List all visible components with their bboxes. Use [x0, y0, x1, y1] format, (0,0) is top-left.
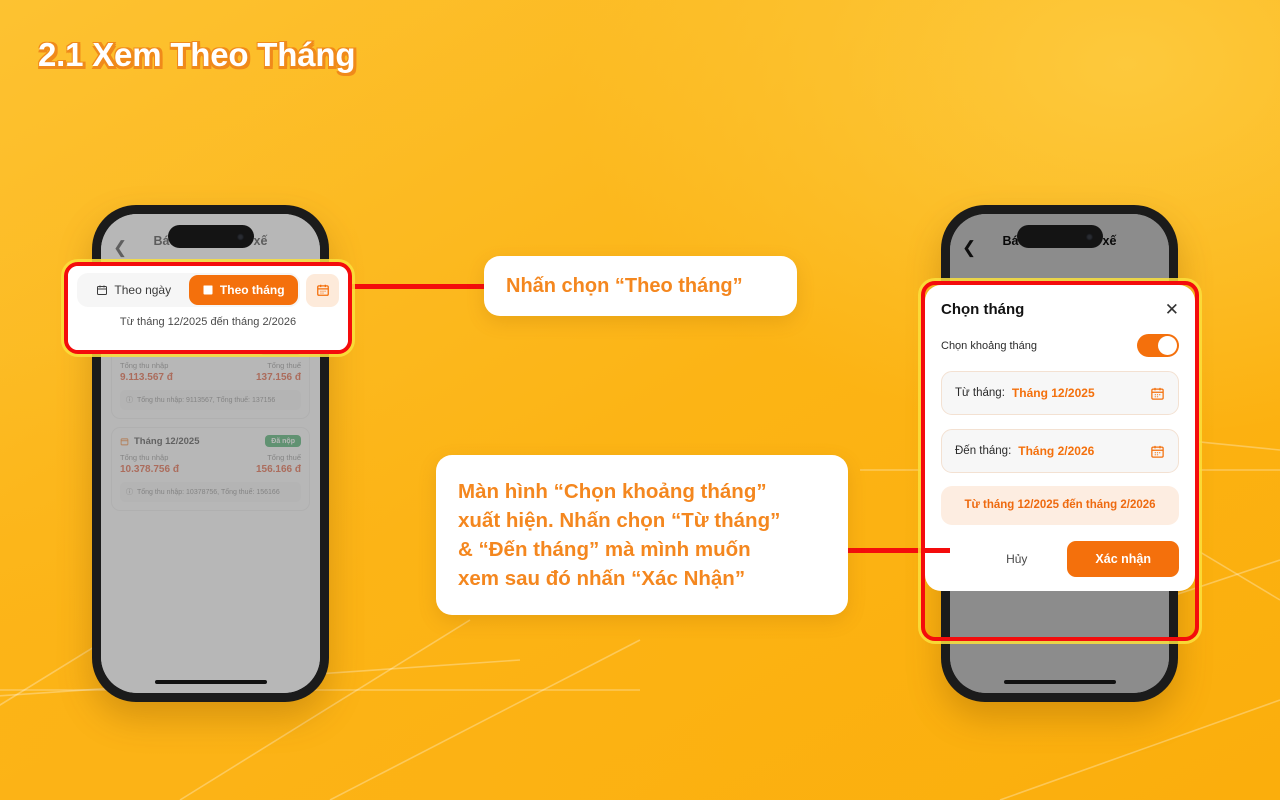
home-indicator: [1004, 680, 1116, 684]
highlight-tab-theo-thang-label: Theo tháng: [220, 283, 285, 297]
callout-step-2-line-2: xuất hiện. Nhấn chọn “Từ tháng”: [458, 506, 780, 535]
highlight-box-segmented: Theo ngày Theo tháng Từ tháng 12/2025 đế…: [64, 262, 352, 354]
page-title: 2.1 Xem Theo Tháng: [38, 36, 355, 74]
highlight-tab-theo-thang[interactable]: Theo tháng: [189, 275, 299, 305]
to-month-label: Đến tháng:: [955, 445, 1011, 457]
calendar-icon: [96, 284, 108, 296]
confirm-button[interactable]: Xác nhận: [1067, 541, 1179, 577]
to-month-field[interactable]: Đến tháng: Tháng 2/2026: [941, 429, 1179, 473]
from-month-label: Từ tháng:: [955, 387, 1005, 399]
month-picker-modal: Chọn tháng ✕ Chọn khoảng tháng Từ tháng:…: [925, 285, 1195, 591]
highlight-tab-theo-ngay-label: Theo ngày: [114, 283, 171, 297]
connector-line-1: [349, 284, 494, 289]
highlight-selected-range-text: Từ tháng 12/2025 đến tháng 2/2026: [77, 307, 339, 336]
highlight-tab-theo-ngay[interactable]: Theo ngày: [79, 275, 189, 305]
calendar-icon: [1150, 444, 1165, 459]
dynamic-island: [168, 225, 254, 248]
close-icon[interactable]: ✕: [1165, 301, 1179, 318]
home-indicator: [155, 680, 267, 684]
from-month-field[interactable]: Từ tháng: Tháng 12/2025: [941, 371, 1179, 415]
cancel-button[interactable]: Hủy: [984, 543, 1049, 575]
calendar-picker-icon: [316, 283, 330, 297]
range-summary: Từ tháng 12/2025 đến tháng 2/2026: [941, 486, 1179, 525]
highlight-period-segmented-control[interactable]: Theo ngày Theo tháng: [77, 273, 300, 307]
connector-line-2: [845, 548, 950, 553]
callout-step-2-line-3: & “Đến tháng” mà mình muốn: [458, 535, 780, 564]
calendar-icon: [1150, 386, 1165, 401]
callout-step-2-line-4: xem sau đó nhấn “Xác Nhận”: [458, 564, 780, 593]
highlight-open-month-picker-button[interactable]: [306, 274, 339, 307]
modal-title: Chọn tháng: [941, 301, 1024, 318]
dynamic-island: [1017, 225, 1103, 248]
range-toggle-label: Chọn khoảng tháng: [941, 340, 1037, 352]
callout-step-2: Màn hình “Chọn khoảng tháng” xuất hiện. …: [436, 455, 848, 615]
callout-step-1: Nhấn chọn “Theo tháng”: [484, 256, 797, 316]
range-toggle-switch[interactable]: [1137, 334, 1179, 357]
from-month-value: Tháng 12/2025: [1012, 386, 1143, 400]
callout-step-2-line-1: Màn hình “Chọn khoảng tháng”: [458, 477, 780, 506]
to-month-value: Tháng 2/2026: [1018, 444, 1143, 458]
callout-step-1-text: Nhấn chọn “Theo tháng”: [506, 275, 743, 298]
calendar-icon: [202, 284, 214, 296]
